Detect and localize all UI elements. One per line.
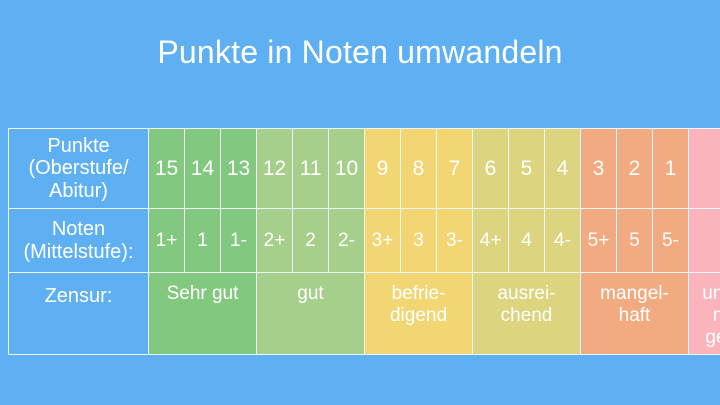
punkte-cell: 11: [293, 129, 329, 209]
table-row-punkte: Punkte (Oberstufe/ Abitur) 15 14 13 12 1…: [9, 129, 720, 209]
noten-cell: 3+: [365, 209, 401, 273]
noten-cell: 2: [293, 209, 329, 273]
punkte-cell: 14: [185, 129, 221, 209]
punkte-cell: 4: [545, 129, 581, 209]
punkte-cell: 9: [365, 129, 401, 209]
zensur-cell: unge-nü-gend: [689, 273, 720, 355]
noten-cell: 5: [617, 209, 653, 273]
zensur-cell: Sehr gut: [149, 273, 257, 355]
punkte-cell: 10: [329, 129, 365, 209]
grade-conversion-table: Punkte (Oberstufe/ Abitur) 15 14 13 12 1…: [8, 128, 712, 354]
row-label-noten: Noten (Mittelstufe):: [9, 209, 149, 273]
row-label-punkte-line2: (Oberstufe/: [28, 157, 128, 179]
noten-cell: 2+: [257, 209, 293, 273]
punkte-cell: 6: [473, 129, 509, 209]
noten-cell: 1-: [221, 209, 257, 273]
noten-cell: 3-: [437, 209, 473, 273]
punkte-cell: 12: [257, 129, 293, 209]
row-label-zensur: Zensur:: [9, 273, 149, 355]
punkte-cell: 8: [401, 129, 437, 209]
table-row-noten: Noten (Mittelstufe): 1+ 1 1- 2+ 2 2- 3+ …: [9, 209, 720, 273]
noten-cell: 4+: [473, 209, 509, 273]
row-label-noten-line1: Noten: [52, 218, 105, 240]
noten-cell: 4: [509, 209, 545, 273]
page-title: Punkte in Noten umwandeln: [0, 34, 720, 71]
punkte-cell: 2: [617, 129, 653, 209]
row-label-punkte: Punkte (Oberstufe/ Abitur): [9, 129, 149, 209]
zensur-cell: mangel-haft: [581, 273, 689, 355]
row-label-punkte-line1: Punkte: [47, 135, 109, 157]
punkte-cell: 3: [581, 129, 617, 209]
noten-cell: 5-: [653, 209, 689, 273]
noten-cell: 4-: [545, 209, 581, 273]
punkte-cell: 5: [509, 129, 545, 209]
zensur-cell: ausrei-chend: [473, 273, 581, 355]
punkte-cell: 7: [437, 129, 473, 209]
punkte-cell: 13: [221, 129, 257, 209]
row-label-punkte-line3: Abitur): [49, 180, 108, 202]
punkte-cell: 1: [653, 129, 689, 209]
grade-table: Punkte (Oberstufe/ Abitur) 15 14 13 12 1…: [8, 128, 720, 355]
zensur-cell: befrie-digend: [365, 273, 473, 355]
noten-cell: 6: [689, 209, 720, 273]
noten-cell: 1: [185, 209, 221, 273]
table-row-zensur: Zensur: Sehr gut gut befrie-digend ausre…: [9, 273, 720, 355]
punkte-cell: 0: [689, 129, 720, 209]
row-label-noten-line2: (Mittelstufe):: [23, 241, 133, 263]
zensur-cell: gut: [257, 273, 365, 355]
noten-cell: 1+: [149, 209, 185, 273]
noten-cell: 3: [401, 209, 437, 273]
punkte-cell: 15: [149, 129, 185, 209]
noten-cell: 5+: [581, 209, 617, 273]
noten-cell: 2-: [329, 209, 365, 273]
